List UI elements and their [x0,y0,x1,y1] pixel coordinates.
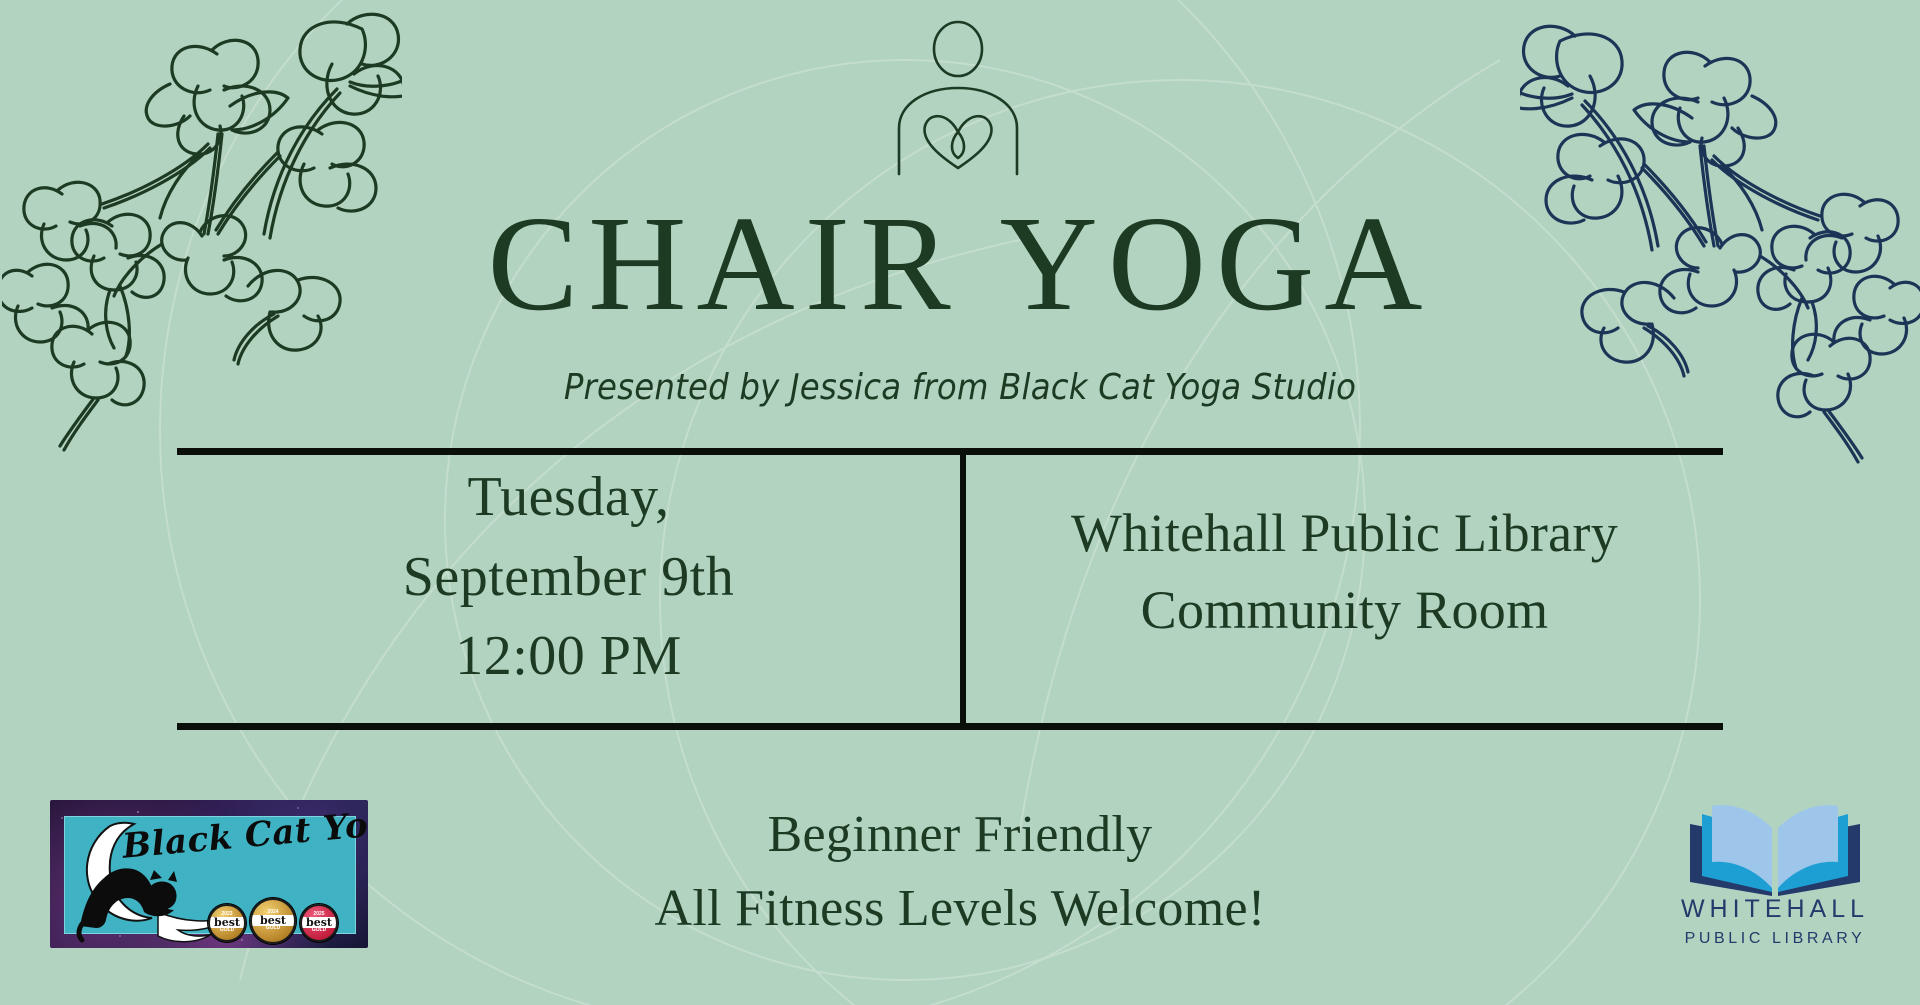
award-badge-2023: 2023 best GOLD [208,904,246,942]
black-cat-yoga-logo: Black Cat Yoga 2023 best GOLD 2024 best … [50,800,368,948]
library-name-line-1: WHITEHALL [1672,895,1878,924]
event-room: Community Room [966,572,1723,649]
person-meditating-icon [885,16,1035,176]
page-subtitle: Presented by Jessica from Black Cat Yoga… [0,367,1920,408]
award-badge-2024: 2024 best GOLD [250,898,296,944]
event-day: Tuesday, [177,458,960,538]
award-badge-2025: 2025 best GOLD [300,904,338,942]
event-date: September 9th [177,538,960,618]
divider-rule-top [177,448,1723,455]
page-title: CHAIR YOGA [0,196,1920,332]
whitehall-public-library-logo: WHITEHALL PUBLIC LIBRARY [1672,800,1878,950]
divider-rule-bottom [177,723,1723,730]
event-datetime-block: Tuesday, September 9th 12:00 PM [177,458,960,697]
event-venue: Whitehall Public Library [966,495,1723,572]
open-book-icon [1672,800,1878,900]
library-name-line-2: PUBLIC LIBRARY [1672,930,1878,948]
event-location-block: Whitehall Public Library Community Room [966,495,1723,648]
event-time: 12:00 PM [177,617,960,697]
poster-canvas: CHAIR YOGA Presented by Jessica from Bla… [0,0,1920,1005]
